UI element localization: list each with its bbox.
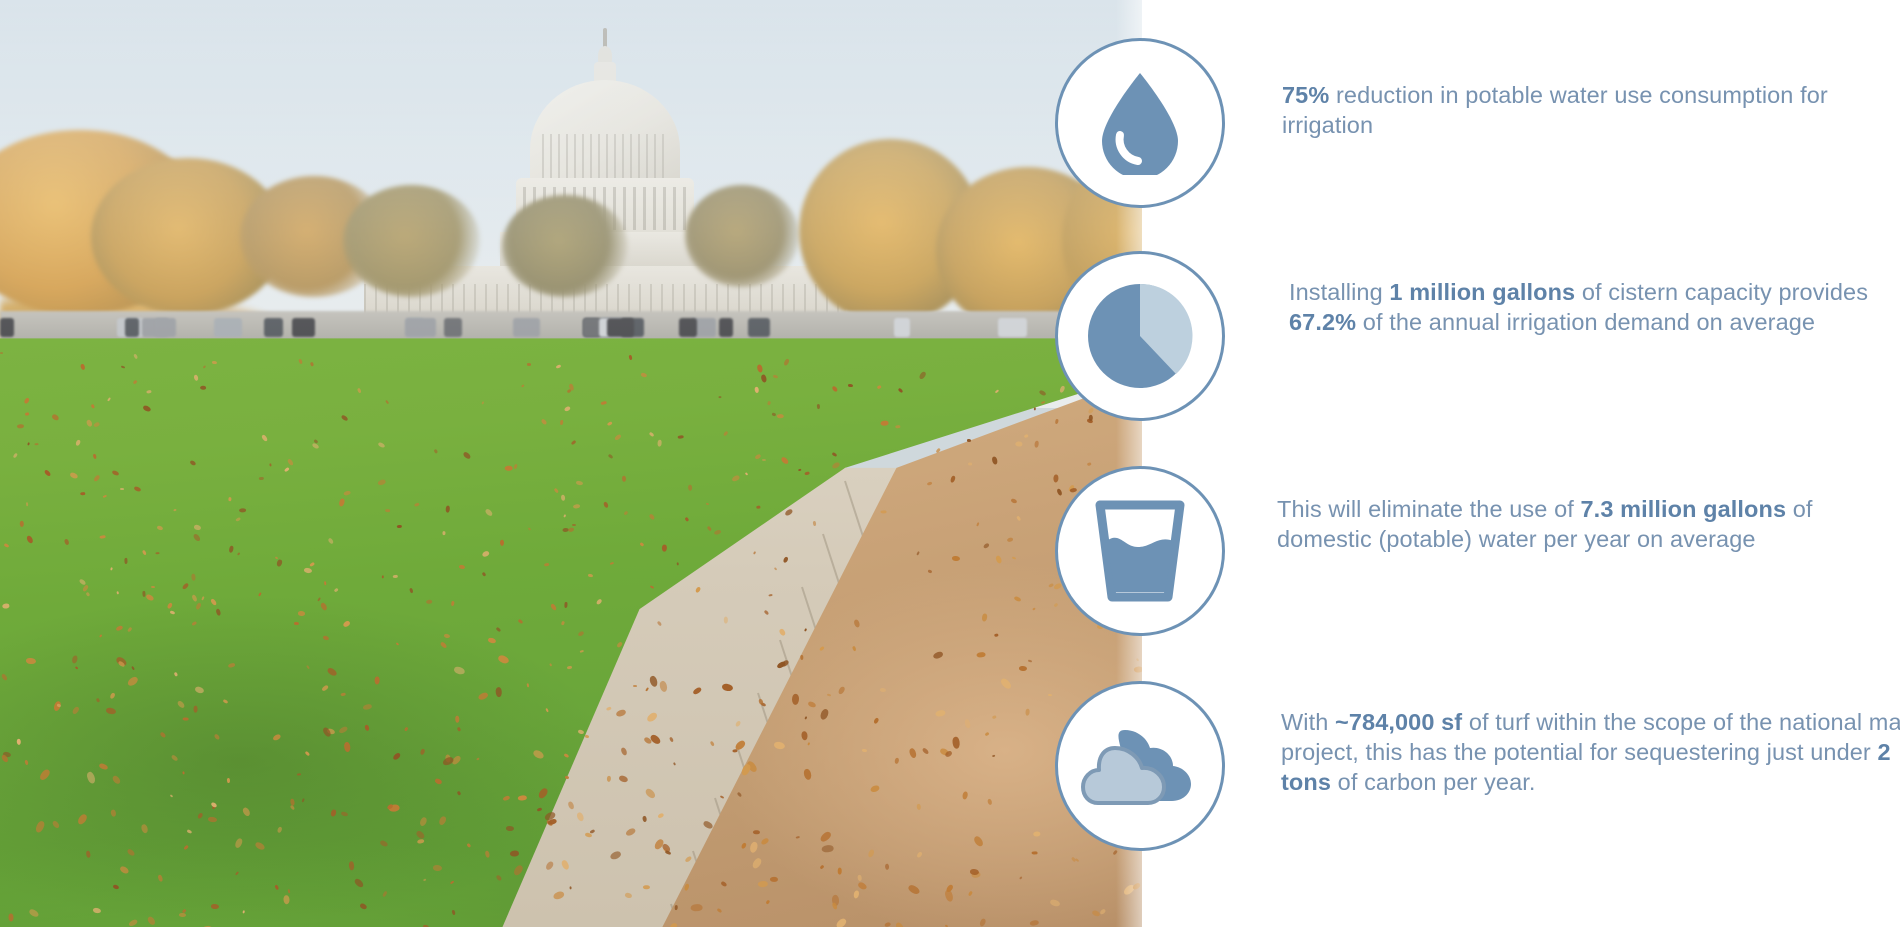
parked-car: [894, 318, 911, 337]
stat-text-4: With ~784,000 sf of turf within the scop…: [1281, 707, 1900, 797]
stat-row-carbon-sequestration: With ~784,000 sf of turf within the scop…: [1055, 681, 1900, 889]
parked-car: [214, 318, 242, 337]
stat-text-1: 75% reduction in potable water use consu…: [1282, 80, 1900, 140]
stat-text-2: Installing 1 million gallons of cistern …: [1289, 277, 1900, 337]
tree-foliage: [502, 195, 628, 297]
infographic-page: 75% reduction in potable water use consu…: [0, 0, 1900, 927]
parked-car: [155, 318, 176, 337]
parked-car: [583, 318, 600, 337]
parked-car: [607, 318, 634, 337]
capitol-dome: [530, 80, 680, 192]
parked-car: [444, 318, 461, 337]
parked-car: [719, 318, 733, 337]
parked-car: [292, 318, 315, 337]
photo-national-mall: [0, 0, 1142, 927]
parked-car: [125, 318, 139, 337]
stat-row-potable-water: This will eliminate the use of 7.3 milli…: [1055, 466, 1900, 674]
tree-foliage: [343, 185, 480, 296]
stat-text-3: This will eliminate the use of 7.3 milli…: [1277, 494, 1897, 554]
badge-water-drop[interactable]: [1055, 38, 1225, 208]
badge-water-glass[interactable]: [1055, 466, 1225, 636]
tree-foliage: [685, 185, 799, 287]
parked-car: [998, 318, 1027, 337]
parked-car: [0, 318, 14, 337]
badge-cloud[interactable]: [1055, 681, 1225, 851]
pie-chart-icon: [1086, 282, 1194, 390]
water-glass-icon: [1092, 499, 1188, 603]
water-drop-icon: [1098, 71, 1182, 175]
parked-car: [748, 318, 770, 337]
badge-pie-chart[interactable]: [1055, 251, 1225, 421]
parked-car: [513, 318, 540, 337]
cloud-icon: [1081, 724, 1199, 808]
parked-car: [405, 318, 436, 337]
stat-row-cistern-capacity: Installing 1 million gallons of cistern …: [1055, 251, 1900, 459]
leaf: [1033, 408, 1035, 412]
stats-panel: 75% reduction in potable water use consu…: [1142, 0, 1900, 927]
stat-row-water-reduction: 75% reduction in potable water use consu…: [1055, 38, 1900, 246]
parked-car: [264, 318, 283, 337]
parked-car: [679, 318, 697, 337]
